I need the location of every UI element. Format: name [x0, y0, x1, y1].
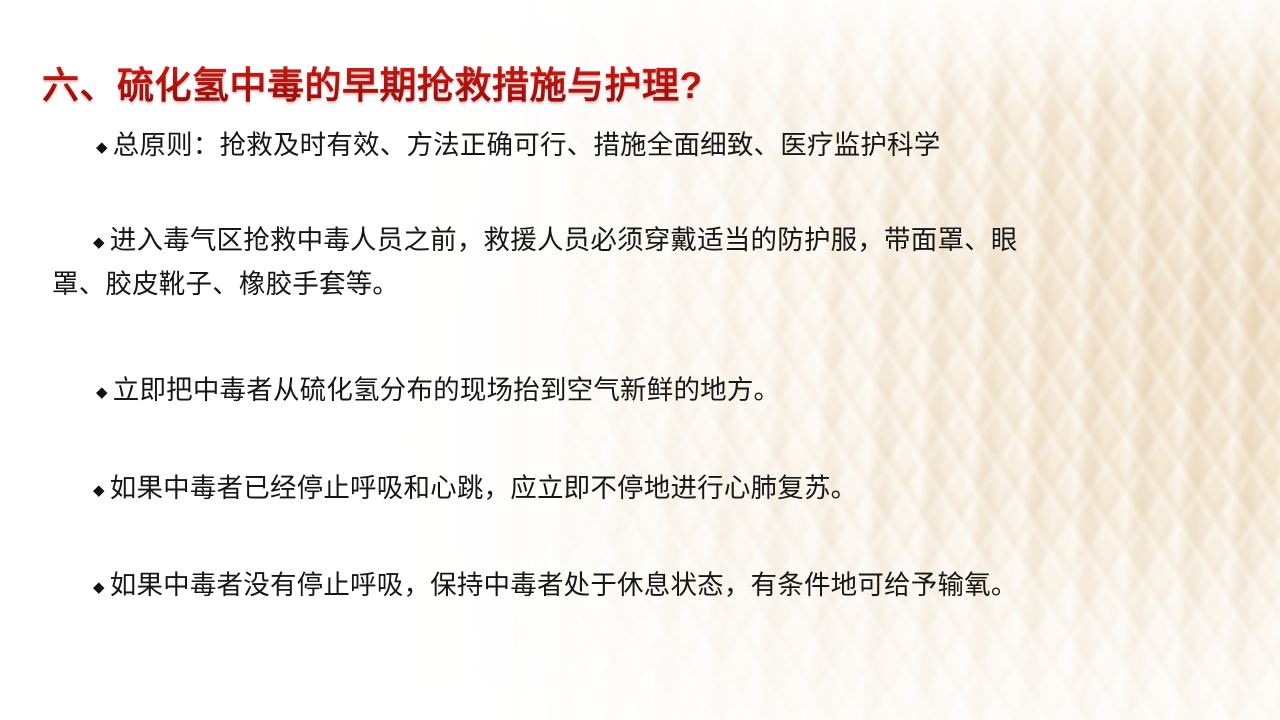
list-item-text: 总原则：抢救及时有效、方法正确可行、措施全面细致、医疗监护科学	[113, 130, 941, 160]
page-title: 六、硫化氢中毒的早期抢救措施与护理?	[42, 55, 703, 109]
list-item: ◆如果中毒者已经停止呼吸和心跳，应立即不停地进行心肺复苏。	[93, 468, 857, 511]
diamond-bullet-icon: ◆	[93, 579, 110, 596]
list-item-text: 进入毒气区抢救中毒人员之前，救援人员必须穿戴适当的防护服，带面罩、眼	[110, 225, 1018, 255]
list-item: ◆立即把中毒者从硫化氢分布的现场抬到空气新鲜的地方。	[96, 370, 780, 413]
diamond-bullet-icon: ◆	[93, 482, 110, 499]
list-item-text-continued: 罩、胶皮靴子、橡胶手套等。	[52, 269, 399, 299]
slide-content: 六、硫化氢中毒的早期抢救措施与护理? 六、硫化氢中毒的早期抢救措施与护理? ◆总…	[0, 0, 1280, 720]
list-item: ◆如果中毒者没有停止呼吸，保持中毒者处于休息状态，有条件地可给予输氧。	[93, 565, 1018, 608]
list-item: ◆总原则：抢救及时有效、方法正确可行、措施全面细致、医疗监护科学	[96, 125, 940, 168]
list-item-text: 如果中毒者已经停止呼吸和心跳，应立即不停地进行心肺复苏。	[110, 473, 858, 503]
list-item-text: 立即把中毒者从硫化氢分布的现场抬到空气新鲜的地方。	[113, 375, 781, 405]
diamond-bullet-icon: ◆	[93, 234, 110, 251]
diamond-bullet-icon: ◆	[96, 384, 113, 401]
list-item-continuation: 罩、胶皮靴子、橡胶手套等。	[52, 264, 399, 304]
list-item-text: 如果中毒者没有停止呼吸，保持中毒者处于休息状态，有条件地可给予输氧。	[110, 570, 1018, 600]
diamond-bullet-icon: ◆	[96, 139, 113, 156]
presentation-slide: 六、硫化氢中毒的早期抢救措施与护理? 六、硫化氢中毒的早期抢救措施与护理? ◆总…	[0, 0, 1280, 720]
list-item: ◆进入毒气区抢救中毒人员之前，救援人员必须穿戴适当的防护服，带面罩、眼	[93, 220, 1278, 263]
